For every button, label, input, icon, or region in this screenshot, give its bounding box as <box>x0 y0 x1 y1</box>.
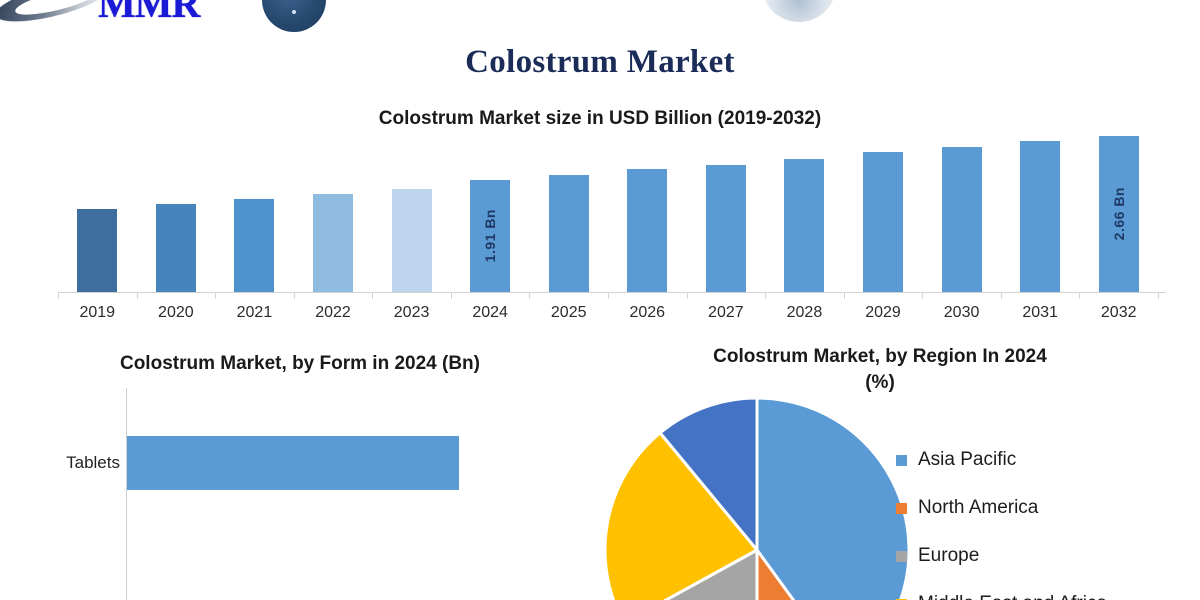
bar-2019[interactable] <box>77 122 117 292</box>
pie-legend-label: Middle East and Africa <box>918 593 1107 600</box>
pie-slice-asia-pacific[interactable] <box>757 398 909 600</box>
bar-2027[interactable] <box>706 122 746 292</box>
bar-axis-tick <box>215 292 216 299</box>
page-title: Colostrum Market <box>0 44 1200 81</box>
market-size-bar-chart: Colostrum Market size in USD Billion (20… <box>0 108 1200 333</box>
bar-axis-tick <box>372 292 373 299</box>
mmr-logo-text: MMR <box>98 0 199 27</box>
bar-rect-2027[interactable] <box>706 165 746 292</box>
circle-badge-light-icon <box>762 0 836 22</box>
bar-value-label-2032: 2.66 Bn <box>1111 187 1127 240</box>
bar-xlabel-2025: 2025 <box>529 304 608 322</box>
bar-rect-2021[interactable] <box>234 199 274 292</box>
bar-chart-plot-area: 1.91 Bn2.66 Bn <box>58 122 1158 292</box>
bar-rect-2023[interactable] <box>392 189 432 292</box>
bar-2029[interactable] <box>863 122 903 292</box>
pie-legend-item[interactable]: North America <box>896 484 1196 532</box>
bar-axis-tick <box>1079 292 1080 299</box>
bar-axis-tick <box>1158 292 1159 299</box>
bar-axis-tick <box>608 292 609 299</box>
pie-legend-item[interactable]: Middle East and Africa <box>896 580 1196 600</box>
pie-legend-label: Asia Pacific <box>918 449 1016 471</box>
bar-rect-2026[interactable] <box>627 169 667 292</box>
by-region-pie-chart: Colostrum Market, by Region In 2024 (%) … <box>600 340 1200 600</box>
bar-rect-2030[interactable] <box>942 147 982 292</box>
bar-xlabel-2026: 2026 <box>608 304 687 322</box>
pie-legend-item[interactable]: Europe <box>896 532 1196 580</box>
bar-axis-tick <box>765 292 766 299</box>
bar-rect-2019[interactable] <box>77 209 117 292</box>
bar-axis-tick <box>844 292 845 299</box>
bar-axis-tick <box>58 292 59 299</box>
bar-2024[interactable]: 1.91 Bn <box>470 122 510 292</box>
by-form-bar-tablets[interactable] <box>127 436 459 490</box>
bar-2032[interactable]: 2.66 Bn <box>1099 122 1139 292</box>
bar-xlabel-2020: 2020 <box>137 304 216 322</box>
by-form-category-label-wrap: Tablets <box>8 436 120 490</box>
bar-rect-2022[interactable] <box>313 194 353 292</box>
bar-xlabel-2022: 2022 <box>294 304 373 322</box>
pie-legend-swatch-icon <box>896 551 907 562</box>
pie-graphic[interactable] <box>605 398 909 600</box>
bar-axis-tick <box>922 292 923 299</box>
bar-xlabel-2029: 2029 <box>844 304 923 322</box>
by-form-y-axis <box>126 388 127 600</box>
bar-rect-2020[interactable] <box>156 204 196 292</box>
bar-rect-2028[interactable] <box>784 159 824 292</box>
bar-rect-2029[interactable] <box>863 152 903 292</box>
bar-xlabel-2031: 2031 <box>1001 304 1080 322</box>
bar-rect-2032[interactable]: 2.66 Bn <box>1099 136 1139 292</box>
by-region-chart-title-line2: (%) <box>620 370 1140 396</box>
bar-rect-2031[interactable] <box>1020 141 1060 292</box>
bar-xlabel-2019: 2019 <box>58 304 137 322</box>
pie-legend-label: North America <box>918 497 1038 519</box>
bar-axis-tick <box>529 292 530 299</box>
by-form-category-label: Tablets <box>10 436 120 490</box>
circle-badge-icon <box>262 0 326 32</box>
by-region-chart-title-line1: Colostrum Market, by Region In 2024 <box>620 344 1140 370</box>
pie-legend: Asia PacificNorth AmericaEuropeMiddle Ea… <box>896 436 1196 600</box>
bar-2023[interactable] <box>392 122 432 292</box>
bar-2021[interactable] <box>234 122 274 292</box>
bar-axis-tick <box>687 292 688 299</box>
bar-axis-tick <box>137 292 138 299</box>
bar-2026[interactable] <box>627 122 667 292</box>
bar-chart-x-axis <box>58 292 1166 293</box>
bar-rect-2025[interactable] <box>549 175 589 292</box>
pie-legend-swatch-icon <box>896 455 907 466</box>
bar-xlabel-2021: 2021 <box>215 304 294 322</box>
bar-axis-tick <box>294 292 295 299</box>
pie-legend-label: Europe <box>918 545 979 567</box>
pie-legend-item[interactable]: Asia Pacific <box>896 436 1196 484</box>
bar-xlabel-2028: 2028 <box>765 304 844 322</box>
bar-2022[interactable] <box>313 122 353 292</box>
by-region-chart-title: Colostrum Market, by Region In 2024 (%) <box>620 344 1140 396</box>
circle-badge-dot-icon <box>292 10 296 14</box>
bar-rect-2024[interactable]: 1.91 Bn <box>470 180 510 292</box>
by-form-chart-title: Colostrum Market, by Form in 2024 (Bn) <box>0 352 600 376</box>
bar-2028[interactable] <box>784 122 824 292</box>
bar-2030[interactable] <box>942 122 982 292</box>
bar-xlabel-2030: 2030 <box>922 304 1001 322</box>
mmr-logo[interactable]: MMR <box>0 0 215 22</box>
header-title: Market in 2024 <box>350 0 710 3</box>
bar-2025[interactable] <box>549 122 589 292</box>
bar-axis-tick <box>1001 292 1002 299</box>
pie-svg <box>605 398 909 600</box>
bar-axis-tick <box>451 292 452 299</box>
bar-xlabel-2032: 2032 <box>1079 304 1158 322</box>
bar-xlabel-2027: 2027 <box>687 304 766 322</box>
bar-2020[interactable] <box>156 122 196 292</box>
bar-2031[interactable] <box>1020 122 1060 292</box>
bar-xlabel-2024: 2024 <box>451 304 530 322</box>
header-bar: MMR Market in 2024 <box>0 0 1200 22</box>
pie-legend-swatch-icon <box>896 503 907 514</box>
bar-value-label-2024: 1.91 Bn <box>482 209 498 262</box>
bar-xlabel-2023: 2023 <box>372 304 451 322</box>
